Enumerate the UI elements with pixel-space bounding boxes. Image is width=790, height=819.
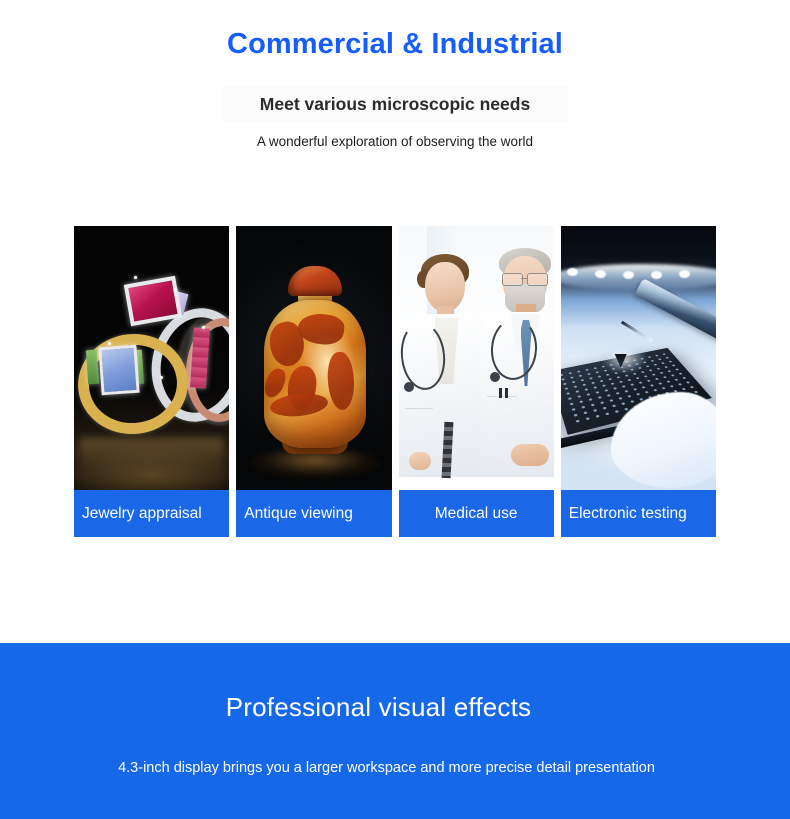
- sparkle-icon: [174, 288, 177, 291]
- page-tagline: A wonderful exploration of observing the…: [0, 132, 790, 152]
- application-card-electronic-testing[interactable]: Electronic testing: [561, 226, 716, 537]
- woman-hand-shape: [409, 452, 431, 470]
- probe-needle-shape: [621, 321, 653, 343]
- application-card-label: Antique viewing: [236, 490, 391, 537]
- ring-light-led: [679, 270, 690, 278]
- glasses-icon: [501, 273, 549, 284]
- application-card-label: Jewelry appraisal: [74, 490, 229, 537]
- page-title: Commercial & Industrial: [0, 24, 790, 64]
- pen-icon: [505, 388, 508, 398]
- ring-light-led: [651, 271, 662, 279]
- application-card-label: Electronic testing: [561, 490, 716, 537]
- stethoscope-bell-icon: [404, 382, 414, 392]
- blue-sapphire-shape: [98, 345, 139, 396]
- feature-banner-title: Professional visual effects: [0, 690, 757, 724]
- pen-icon: [499, 388, 502, 398]
- application-card-label-text: Medical use: [435, 504, 518, 524]
- sparkle-icon: [108, 342, 111, 345]
- application-card-jewelry-appraisal[interactable]: Jewelry appraisal: [74, 226, 229, 537]
- sparkle-icon: [202, 326, 205, 329]
- application-card-medical-use[interactable]: Medical use: [399, 226, 554, 537]
- coat-pocket-shape: [405, 408, 433, 410]
- page-header: Commercial & Industrial Meet various mic…: [0, 0, 790, 152]
- stethoscope-bell-icon: [490, 372, 500, 382]
- application-card-label: Medical use: [399, 490, 554, 537]
- application-card-label-text: Antique viewing: [244, 504, 353, 524]
- ruby-gem-shape: [124, 276, 183, 326]
- ring-light-led: [567, 268, 578, 276]
- coat-pocket-shape: [487, 396, 517, 398]
- application-card-row: Jewelry appraisal Antique viewing: [74, 226, 716, 537]
- application-card-antique-viewing[interactable]: Antique viewing: [236, 226, 391, 537]
- feature-banner: Professional visual effects 4.3-inch dis…: [0, 643, 790, 819]
- ring-light-led: [623, 271, 634, 279]
- application-card-label-text: Jewelry appraisal: [82, 504, 202, 524]
- feature-banner-subtitle: 4.3-inch display brings you a larger wor…: [0, 757, 773, 779]
- table-reflection-shape: [80, 438, 223, 494]
- green-gem-left-shape: [86, 350, 99, 385]
- page-subtitle: Meet various microscopic needs: [260, 93, 530, 115]
- bottle-cap-shape: [288, 266, 342, 296]
- subtitle-band: Meet various microscopic needs: [223, 86, 568, 121]
- glasses-left-lens: [502, 273, 523, 286]
- sparkle-icon: [160, 376, 163, 379]
- glasses-right-lens: [527, 273, 548, 286]
- glasses-bridge: [521, 278, 527, 279]
- ring-light-led: [595, 270, 606, 278]
- sparkle-icon: [134, 276, 137, 279]
- woman-head-shape: [425, 262, 465, 312]
- man-hands-shape: [511, 444, 549, 466]
- application-card-label-text: Electronic testing: [569, 504, 687, 524]
